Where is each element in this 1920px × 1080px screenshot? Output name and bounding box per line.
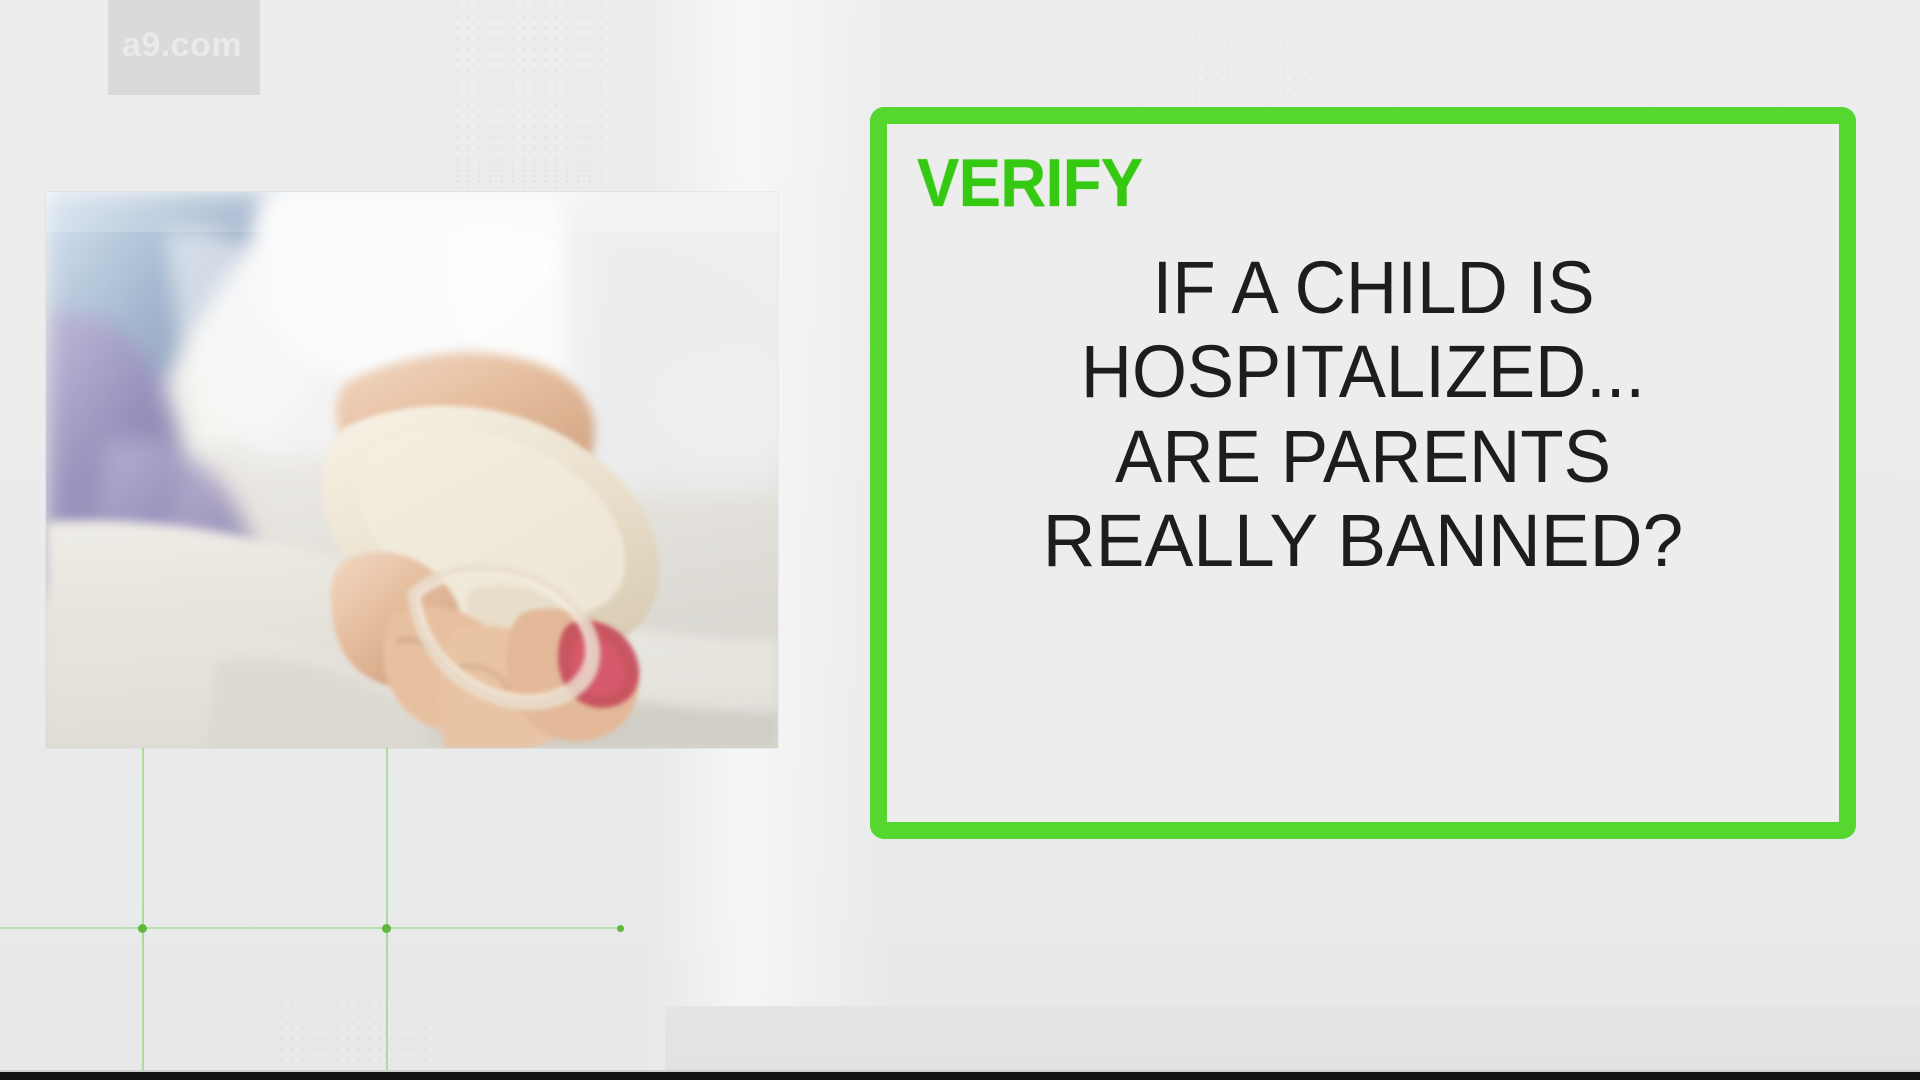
verify-logo: VERIFY <box>917 152 1747 216</box>
station-watermark-label: a9.com <box>122 26 242 65</box>
bottom-letterbox-bar <box>0 1072 1920 1080</box>
grid-node-dot <box>382 924 391 933</box>
lower-graphic-panel <box>665 1006 1920 1074</box>
grid-vertical-line <box>142 744 144 1080</box>
grid-vertical-line <box>386 744 388 1080</box>
grid-horizontal-line <box>0 927 624 929</box>
headline-line-4: REALLY BANNED? <box>921 499 1804 583</box>
grid-node-dot <box>138 924 147 933</box>
headline-line-2: HOSPITALIZED... <box>937 330 1789 414</box>
verify-card-content: VERIFY IF A CHILD IS HOSPITALIZED... ARE… <box>887 124 1839 822</box>
grid-node-dot <box>617 925 624 932</box>
headline-block: IF A CHILD IS HOSPITALIZED... ARE PARENT… <box>917 246 1809 583</box>
hospital-photo <box>46 192 778 748</box>
station-watermark: a9.com <box>108 0 260 95</box>
headline-line-3: ARE PARENTS <box>935 415 1791 499</box>
verify-graphic-card: VERIFY IF A CHILD IS HOSPITALIZED... ARE… <box>870 107 1856 839</box>
headline-line-1: IF A CHILD IS <box>935 246 1791 330</box>
